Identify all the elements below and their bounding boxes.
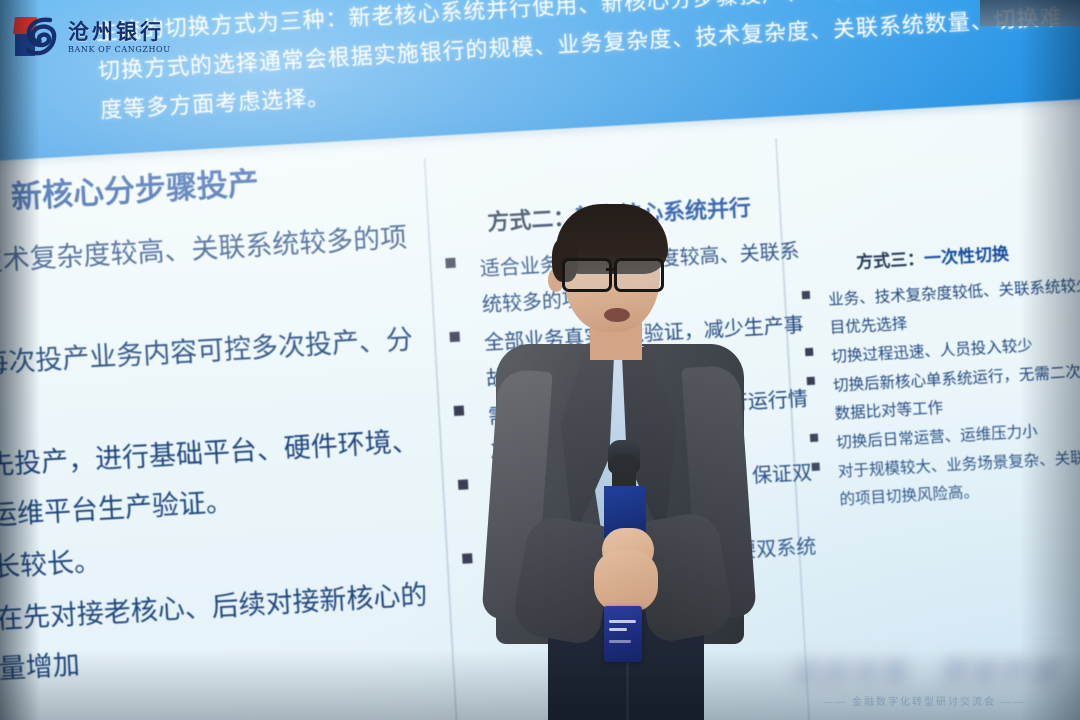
bank-logo-text: 沧州银行 BANK OF CANGZHOU	[68, 21, 171, 54]
column-three-label: 方式三：	[856, 249, 925, 272]
ceiling-edge	[980, 0, 1080, 26]
presentation-photo: 信创环境的切换方式 主流的切换方式为三种：新老核心系统并行使用、新核心分步骤投产…	[0, 0, 1080, 720]
bullet-square-icon	[462, 553, 473, 564]
bank-swirl-icon	[14, 15, 60, 59]
bullet-text: 部分系统存在先对接老核心、后续对接新核心的情况，工作量增加	[0, 580, 428, 692]
bullet-text: 切换过程迅速、人员投入较少	[831, 337, 1033, 365]
event-title-part2: 数智弄潮	[941, 657, 1057, 688]
glasses-icon	[558, 258, 670, 288]
event-subtitle: —— 金融数字化转型研讨交流会 ——	[774, 693, 1074, 708]
event-subtitle-text: 金融数字化转型研讨交流会	[852, 697, 996, 708]
speaker-body	[486, 344, 754, 720]
column-one-name: 新核心分步骤投产	[10, 166, 260, 215]
mouth	[604, 308, 630, 322]
list-item: 部分系统存在先对接老核心、后续对接新核心的情况，工作量增加	[0, 570, 439, 705]
column-three-bullets: 业务、技术复杂度较低、关联系统较少的项目优先选择 切换过程迅速、人员投入较少 切…	[802, 270, 1080, 516]
speaker-figure	[486, 196, 754, 720]
bullet-square-icon	[458, 479, 469, 490]
bullet-text: 切换后日常运营、运维压力小	[836, 423, 1038, 451]
conference-badge	[604, 606, 642, 662]
bank-name-cn: 沧州银行	[68, 21, 171, 42]
hand-holding-mic	[594, 550, 658, 612]
column-three-title: 方式三：一次性切换	[855, 233, 1080, 273]
bank-logo: 沧州银行 BANK OF CANGZHOU	[14, 12, 182, 62]
bank-name-en: BANK OF CANGZHOU	[68, 46, 171, 54]
event-branding: 运启沧海 数智弄潮 —— 金融数字化转型研讨交流会 ——	[774, 650, 1074, 708]
bullet-square-icon	[454, 405, 465, 416]
column-one-bullets: 适合业务、技术复杂度较高、关联系统较多的项目 拆分业务，每次投产业务内容可控多次…	[0, 212, 439, 704]
bullet-text: 切换后新核心单系统运行，无需二次投入、数据比对等工作	[833, 361, 1080, 423]
column-three-name: 一次性切换	[924, 245, 1010, 269]
bullet-square-icon	[449, 331, 460, 342]
bullet-text: 对于规模较大、业务场景复杂、关联系统多的项目切换风险高。	[838, 447, 1080, 509]
bullet-square-icon	[810, 434, 818, 442]
column-method-one: 方式一：新核心分步骤投产 适合业务、技术复杂度较高、关联系统较多的项目 拆分业务…	[0, 137, 439, 706]
bullet-square-icon	[802, 291, 810, 299]
column-method-three: 方式三：一次性切换 业务、技术复杂度较低、关联系统较少的项目优先选择 切换过程迅…	[792, 97, 1080, 517]
bullet-text: 整体项目时长较长。	[0, 547, 102, 591]
bullet-square-icon	[807, 377, 815, 385]
event-title-part1: 运启沧海	[791, 657, 907, 688]
bullet-square-icon	[805, 348, 813, 356]
column-one-title: 方式一：新核心分步骤投产	[0, 149, 412, 224]
bullet-text: 业务、技术复杂度较低、关联系统较少的项目优先选择	[828, 275, 1080, 337]
event-title: 运启沧海 数智弄潮	[774, 650, 1074, 689]
bullet-square-icon	[445, 257, 456, 268]
bullet-square-icon	[811, 463, 819, 471]
